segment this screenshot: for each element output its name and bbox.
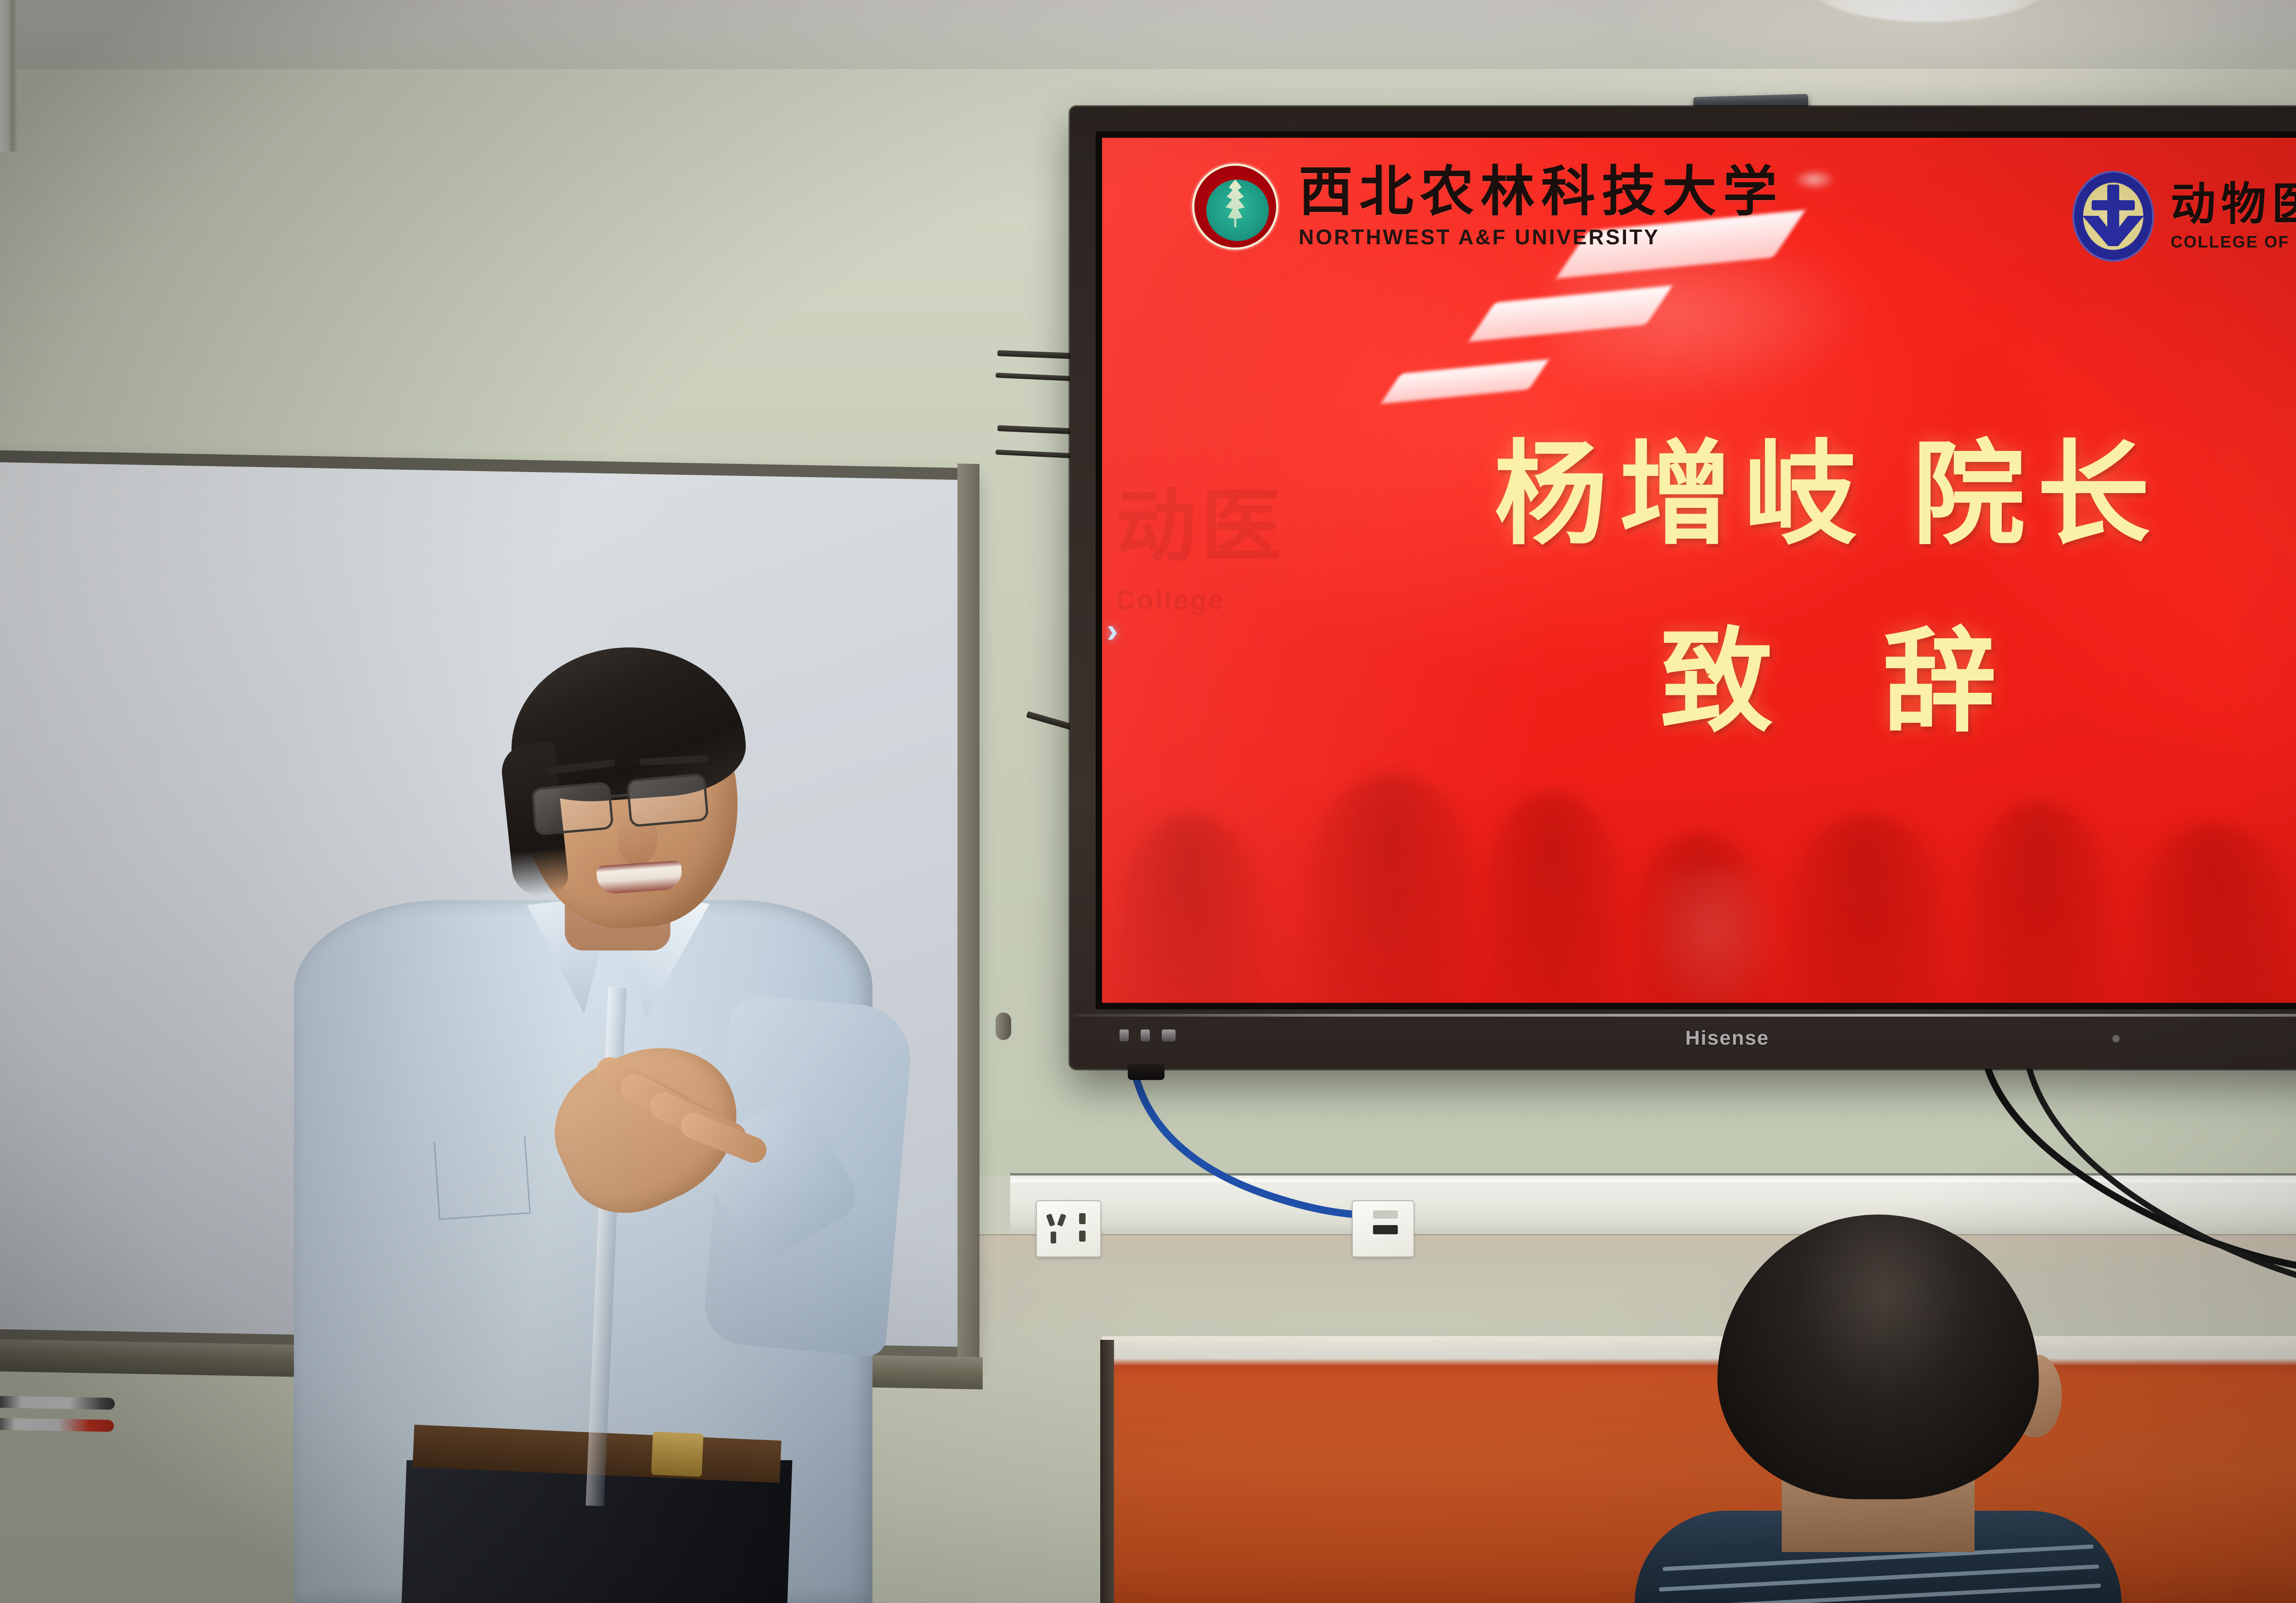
wall-corner-column [0, 0, 12, 152]
ir-receiver-icon [2112, 1035, 2120, 1042]
display-foot [1128, 1064, 1165, 1080]
presenter-shirt-pocket [433, 1136, 530, 1220]
slide-title-block: 杨增岐 院长 致 辞 [1102, 432, 2296, 745]
lectern-left-edge [1100, 1340, 1114, 1603]
photo-scene: 5.0M 动医 College [0, 0, 2296, 1603]
college-crest-icon [2072, 171, 2154, 262]
eyeglass-lens-left [531, 781, 613, 836]
college-name-en: COLLEGE OF VETERINARY MEDICINE [2171, 232, 2296, 252]
black-marker [0, 1396, 115, 1410]
university-logo-block: 西北农林科技大学 NORTHWEST A&F UNIVERSITY [1192, 163, 1784, 250]
eyeglass-lens-right [626, 773, 709, 827]
college-name-cn: 动物医学院 [2171, 181, 2296, 228]
wall-trunking-highlight [1010, 1178, 2296, 1182]
display-port-row[interactable] [1120, 1029, 1176, 1041]
left-drawer-chevron-icon[interactable]: › [1107, 613, 1118, 647]
university-name-en: NORTHWEST A&F UNIVERSITY [1299, 225, 1784, 249]
wall-cable-trunking [1010, 1173, 2296, 1237]
slide-logo-row: 西北农林科技大学 NORTHWEST A&F UNIVERSITY 动物医学院 … [1102, 138, 2296, 276]
university-name-block: 西北农林科技大学 NORTHWEST A&F UNIVERSITY [1299, 164, 1784, 250]
presentation-screen[interactable]: 动医 College 西北农林科技大学 NORTHWEST A&F UNIVER… [1102, 138, 2296, 1003]
display-bezel-highlight [1073, 1014, 2296, 1017]
university-crest-icon [1192, 163, 1278, 250]
slide-title-line-1: 杨增岐 院长 [1102, 432, 2296, 558]
network-jack [1352, 1200, 1414, 1257]
presenter-belt-buckle [651, 1432, 703, 1477]
hdmi-port-icon[interactable] [1162, 1029, 1176, 1041]
slide-title-line-2: 致 辞 [1102, 619, 2296, 746]
whiteboard-right-frame [957, 464, 979, 1383]
power-button-icon[interactable] [1141, 1029, 1150, 1041]
usb-port-icon[interactable] [1120, 1029, 1129, 1041]
whiteboard-knob [996, 1012, 1011, 1040]
display-brand-label: Hisense [1685, 1027, 1942, 1050]
red-marker [0, 1418, 114, 1432]
power-socket [1036, 1200, 1101, 1257]
wall-corner-edge [11, 0, 17, 152]
college-logo-block: 动物医学院 COLLEGE OF VETERINARY MEDICINE [2072, 171, 2296, 262]
college-name-block: 动物医学院 COLLEGE OF VETERINARY MEDICINE [2171, 181, 2296, 252]
university-name-cn: 西北农林科技大学 [1299, 164, 1784, 220]
